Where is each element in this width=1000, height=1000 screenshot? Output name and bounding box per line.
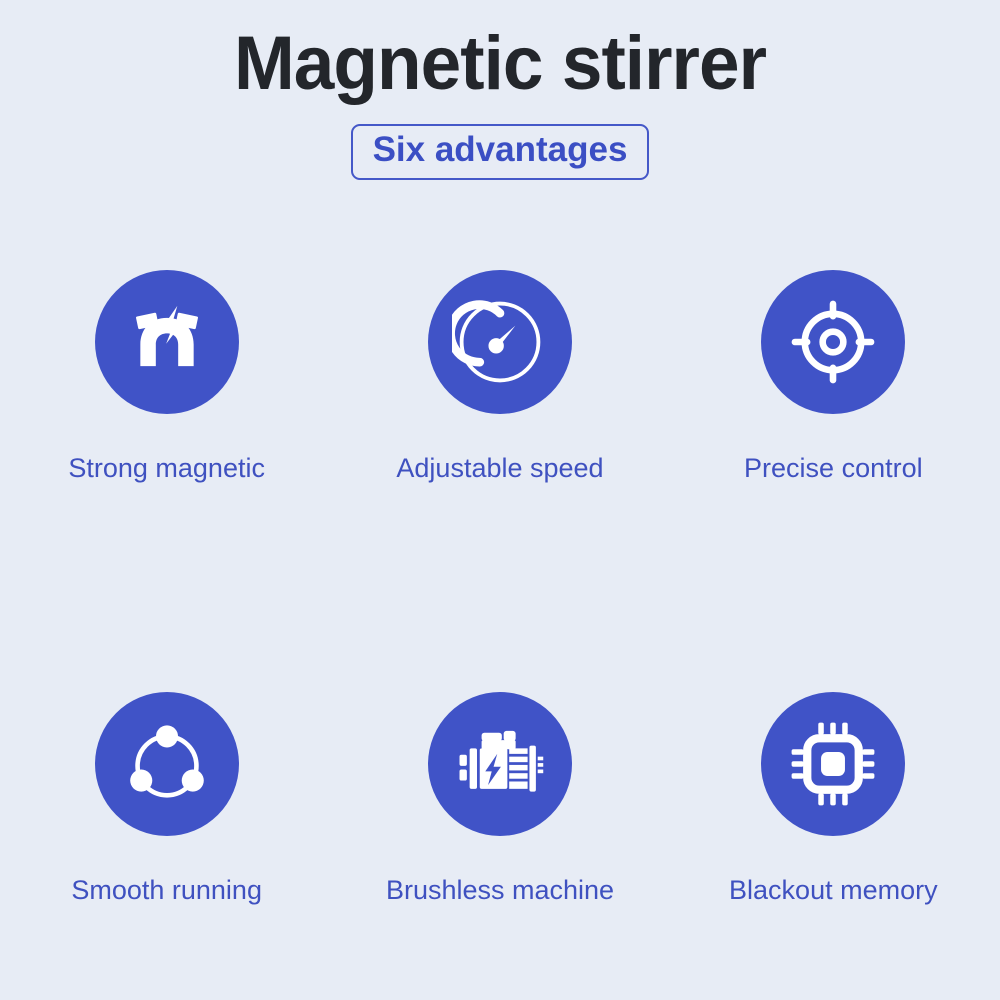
crosshair-target-icon xyxy=(786,295,880,389)
rotation-nodes-icon xyxy=(121,718,213,810)
icon-badge xyxy=(761,270,905,414)
advantage-label: Brushless machine xyxy=(386,876,614,906)
advantage-item-brushless-machine: Brushless machine xyxy=(333,692,666,892)
icon-badge xyxy=(95,270,239,414)
advantage-item-smooth-running: Smooth running xyxy=(0,692,333,892)
advantage-label: Precise control xyxy=(744,454,923,484)
icon-badge xyxy=(95,692,239,836)
subtitle-label: Six advantages xyxy=(373,132,628,169)
advantage-label: Smooth running xyxy=(71,876,262,906)
advantage-label: Strong magnetic xyxy=(68,454,265,484)
advantage-label: Adjustable speed xyxy=(396,454,603,484)
icon-badge xyxy=(428,692,572,836)
cpu-chip-icon xyxy=(787,718,879,810)
magnet-icon xyxy=(124,299,210,385)
subtitle-badge: Six advantages xyxy=(351,124,650,180)
advantage-label: Blackout memory xyxy=(729,876,938,906)
advantage-item-precise-control: Precise control xyxy=(667,270,1000,470)
advantage-item-blackout-memory: Blackout memory xyxy=(667,692,1000,892)
header: Magnetic stirrer Six advantages xyxy=(0,0,1000,180)
poster-root: Magnetic stirrer Six advantages xyxy=(0,0,1000,1000)
electric-motor-icon xyxy=(454,718,546,810)
advantages-grid: Strong magnetic Adjustable speed xyxy=(0,270,1000,892)
subtitle-row: Six advantages xyxy=(0,124,1000,180)
page-title: Magnetic stirrer xyxy=(20,0,980,102)
icon-badge xyxy=(428,270,572,414)
advantage-item-strong-magnetic: Strong magnetic xyxy=(0,270,333,470)
speedometer-icon xyxy=(452,294,548,390)
icon-badge xyxy=(761,692,905,836)
advantage-item-adjustable-speed: Adjustable speed xyxy=(333,270,666,470)
